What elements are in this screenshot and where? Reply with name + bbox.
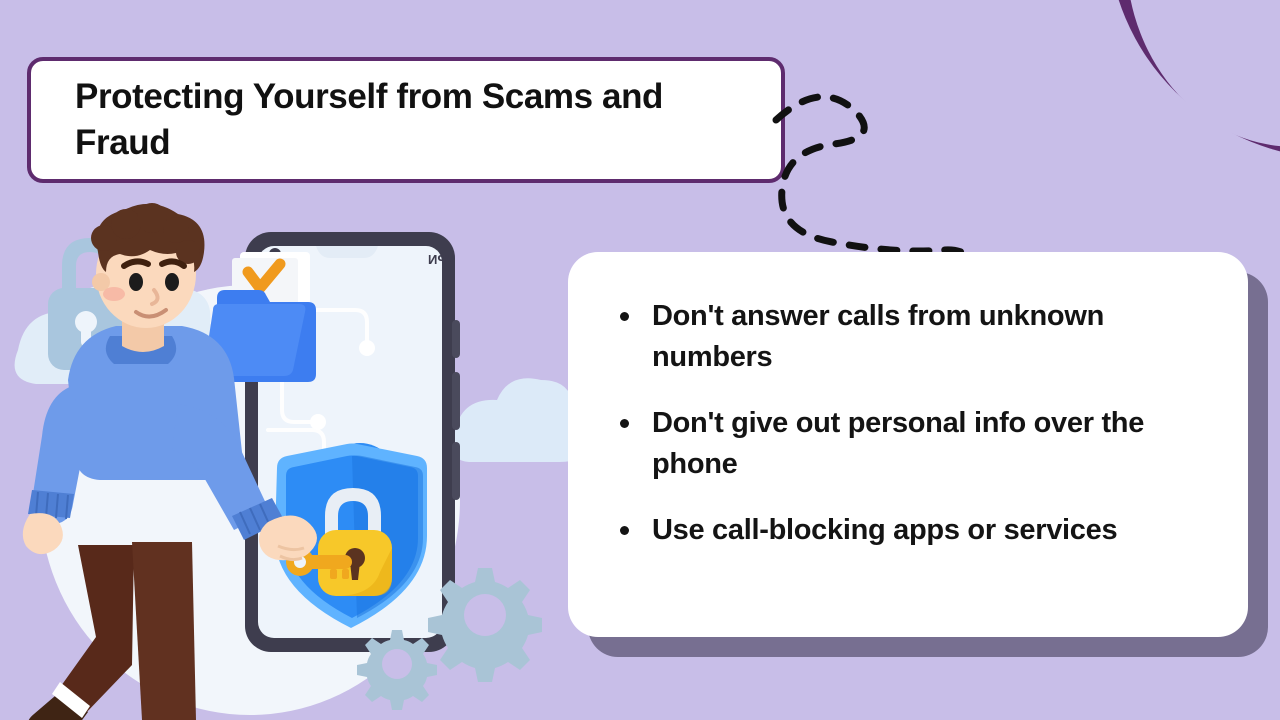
title-box: Protecting Yourself from Scams and Fraud xyxy=(27,57,785,183)
list-item: Don't answer calls from unknown numbers xyxy=(644,296,1214,377)
bullet-list: Don't answer calls from unknown numbers … xyxy=(612,296,1214,551)
list-item: Use call-blocking apps or services xyxy=(644,510,1214,551)
security-illustration: VPN xyxy=(0,190,580,720)
page-title: Protecting Yourself from Scams and Fraud xyxy=(31,74,781,166)
arrow-path xyxy=(776,97,980,274)
slide-canvas: VPN xyxy=(0,0,1280,720)
gear-small-icon xyxy=(357,630,437,710)
list-item: Don't give out personal info over the ph… xyxy=(644,403,1214,484)
bullet-card: Don't answer calls from unknown numbers … xyxy=(568,252,1248,637)
cloud-right-shape xyxy=(452,378,580,462)
gear-large-icon xyxy=(428,568,542,682)
corner-decoration-light xyxy=(1113,0,1280,147)
phone-vpn-label: VPN xyxy=(428,252,455,267)
